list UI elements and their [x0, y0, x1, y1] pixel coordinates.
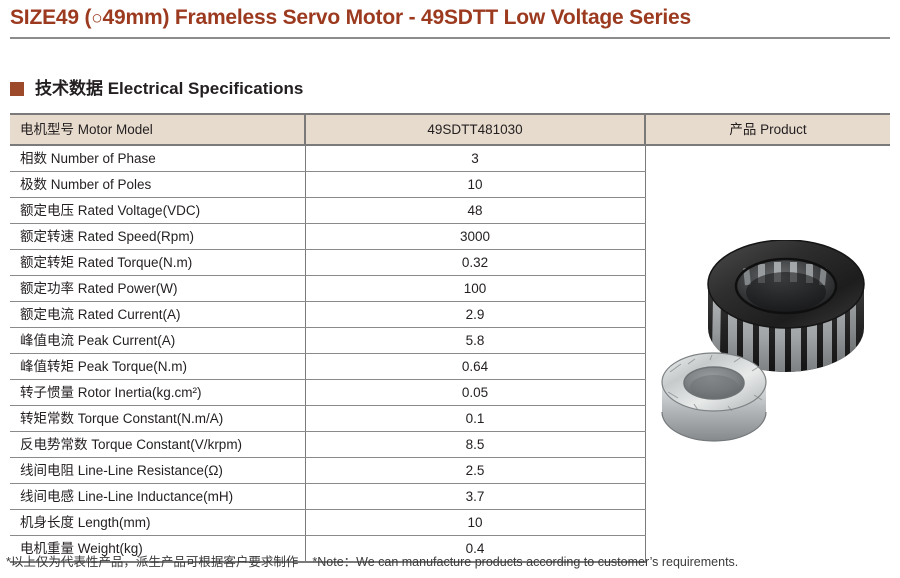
- diameter-circle-icon: ○: [91, 8, 102, 29]
- spec-label: 额定转速 Rated Speed(Rpm): [10, 224, 305, 250]
- section-header: 技术数据 Electrical Specifications: [10, 78, 303, 100]
- spec-label: 峰值电流 Peak Current(A): [10, 328, 305, 354]
- spec-value: 2.9: [305, 302, 645, 328]
- spec-value: 8.5: [305, 432, 645, 458]
- spec-value: 3.7: [305, 484, 645, 510]
- spec-value: 0.05: [305, 380, 645, 406]
- spec-label: 额定功率 Rated Power(W): [10, 276, 305, 302]
- spec-value: 0.1: [305, 406, 645, 432]
- spec-label: 相数 Number of Phase: [10, 145, 305, 172]
- footnote-cn: *以上仅为代表性产品，派生产品可根据客户要求制作: [6, 555, 298, 569]
- spec-value: 48: [305, 198, 645, 224]
- spec-label: 额定电压 Rated Voltage(VDC): [10, 198, 305, 224]
- page-title-suffix: 49mm) Frameless Servo Motor - 49SDTT Low…: [103, 6, 691, 29]
- table-header: 电机型号 Motor Model 49SDTT481030 产品 Product: [10, 114, 890, 145]
- spec-value: 10: [305, 172, 645, 198]
- section-header-label: 技术数据 Electrical Specifications: [35, 79, 303, 99]
- spec-label: 反电势常数 Torque Constant(V/krpm): [10, 432, 305, 458]
- electrical-specifications-table: 电机型号 Motor Model 49SDTT481030 产品 Product…: [10, 113, 890, 563]
- spec-value: 3000: [305, 224, 645, 250]
- page-title: SIZE49 (○49mm) Frameless Servo Motor - 4…: [10, 4, 890, 32]
- spec-label: 机身长度 Length(mm): [10, 510, 305, 536]
- product-image-cell: [645, 145, 890, 562]
- product-spec-page: SIZE49 (○49mm) Frameless Servo Motor - 4…: [0, 0, 900, 578]
- spec-value: 5.8: [305, 328, 645, 354]
- table-body: 相数 Number of Phase3极数 Number of Poles10额…: [10, 145, 890, 562]
- page-title-prefix: SIZE49 (: [10, 6, 91, 29]
- table-header-row: 电机型号 Motor Model 49SDTT481030 产品 Product: [10, 114, 890, 145]
- spec-label: 额定电流 Rated Current(A): [10, 302, 305, 328]
- spec-label: 极数 Number of Poles: [10, 172, 305, 198]
- spec-value: 3: [305, 145, 645, 172]
- spec-value: 2.5: [305, 458, 645, 484]
- spec-label: 峰值转矩 Peak Torque(N.m): [10, 354, 305, 380]
- column-header-model-number: 49SDTT481030: [305, 114, 645, 145]
- spec-value: 0.32: [305, 250, 645, 276]
- spec-label: 转子惯量 Rotor Inertia(kg.cm²): [10, 380, 305, 406]
- section-bullet-square-icon: [10, 82, 24, 96]
- footnote: *以上仅为代表性产品，派生产品可根据客户要求制作*Note：We can man…: [6, 554, 896, 570]
- spec-label: 转矩常数 Torque Constant(N.m/A): [10, 406, 305, 432]
- spec-value: 100: [305, 276, 645, 302]
- spec-label: 线间电感 Line-Line Inductance(mH): [10, 484, 305, 510]
- footnote-en: *Note：We can manufacture products accord…: [312, 555, 738, 569]
- spec-label: 额定转矩 Rated Torque(N.m): [10, 250, 305, 276]
- spec-value: 10: [305, 510, 645, 536]
- spec-value: 0.64: [305, 354, 645, 380]
- table-row: 相数 Number of Phase3: [10, 145, 890, 172]
- column-header-product: 产品 Product: [645, 114, 890, 145]
- spec-label: 线间电阻 Line-Line Resistance(Ω): [10, 458, 305, 484]
- column-header-motor-model: 电机型号 Motor Model: [10, 114, 305, 145]
- title-divider: [10, 37, 890, 39]
